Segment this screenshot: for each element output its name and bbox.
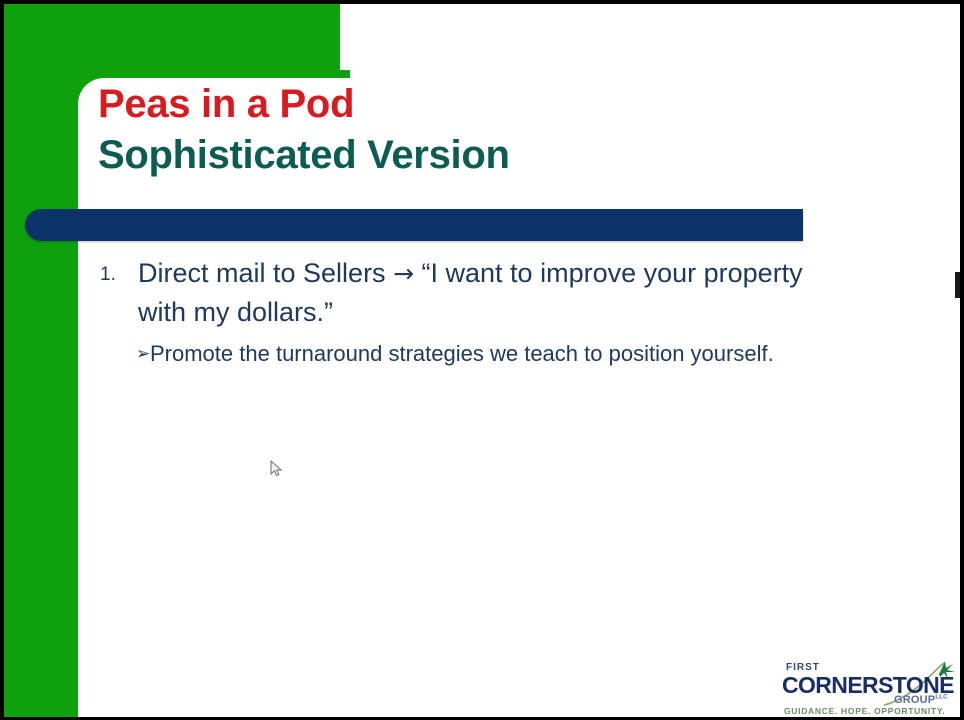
slide-title-main: Peas in a Pod <box>98 80 510 128</box>
letterbox-left <box>0 0 4 720</box>
bullet-text-1-pre: Direct mail to Sellers <box>138 258 393 288</box>
navy-divider-bar <box>25 209 803 241</box>
logo-group-word: GROUP <box>894 694 935 706</box>
bullet-text-2: Promote the turnaround strategies we tea… <box>150 337 810 370</box>
logo-llc-mark: LLC <box>935 694 947 700</box>
bullet-item-2: ➢ Promote the turnaround strategies we t… <box>92 337 892 371</box>
green-top-block <box>0 0 340 80</box>
arrowhead-bullet-icon: ➢ <box>92 337 150 371</box>
slide-body-content: 1. Direct mail to Sellers → “I want to i… <box>92 254 892 371</box>
company-logo: FIRST CORNERSTONE GROUPLLC GUIDANCE. HOP… <box>782 660 960 716</box>
slide-canvas: Peas in a Pod Sophisticated Version 1. D… <box>0 0 964 720</box>
slide-title-area: Peas in a Pod Sophisticated Version <box>98 80 510 180</box>
letterbox-right <box>960 0 964 720</box>
mouse-cursor-icon <box>270 460 284 478</box>
letterbox-top <box>0 0 964 4</box>
slide-title-subtitle: Sophisticated Version <box>98 130 510 180</box>
bullet-item-1: 1. Direct mail to Sellers → “I want to i… <box>92 254 892 332</box>
bullet-marker-number: 1. <box>92 254 138 295</box>
logo-text-group: GROUPLLC <box>894 694 948 706</box>
logo-tagline: GUIDANCE. HOPE. OPPORTUNITY. <box>784 706 945 716</box>
right-arrow-icon: → <box>393 259 414 288</box>
green-left-rail <box>0 0 78 720</box>
bullet-text-1: Direct mail to Sellers → “I want to impr… <box>138 254 828 332</box>
